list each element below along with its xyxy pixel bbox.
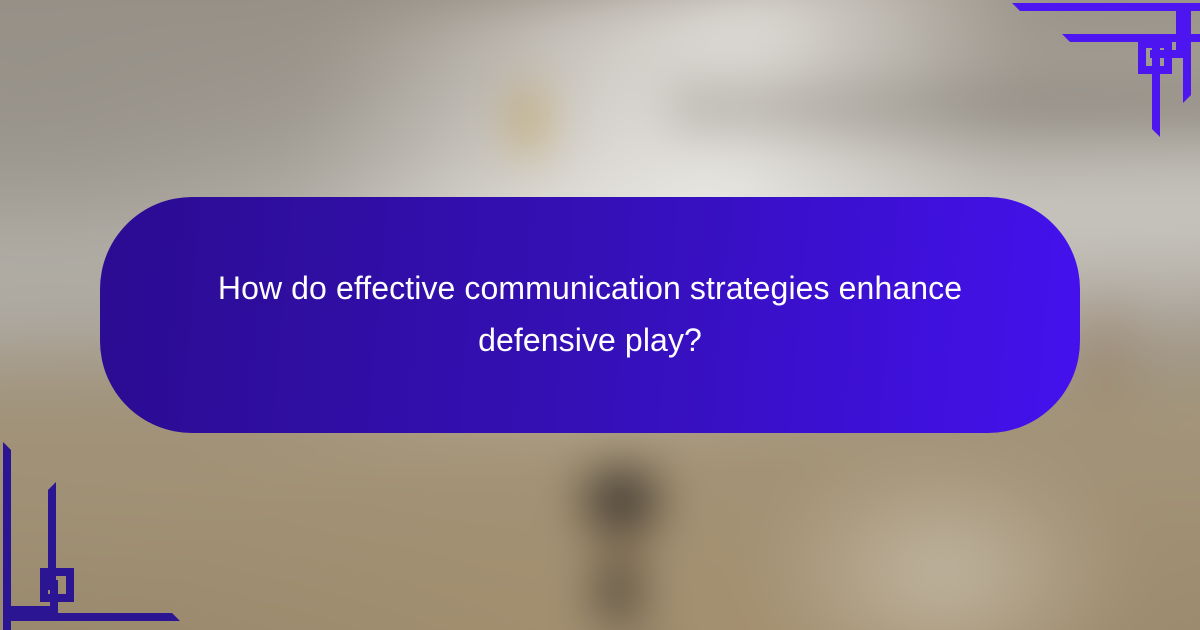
title-banner: How do effective communication strategie… (100, 197, 1080, 433)
page-title: How do effective communication strategie… (210, 263, 970, 367)
hero-card: How do effective communication strategie… (0, 0, 1200, 630)
